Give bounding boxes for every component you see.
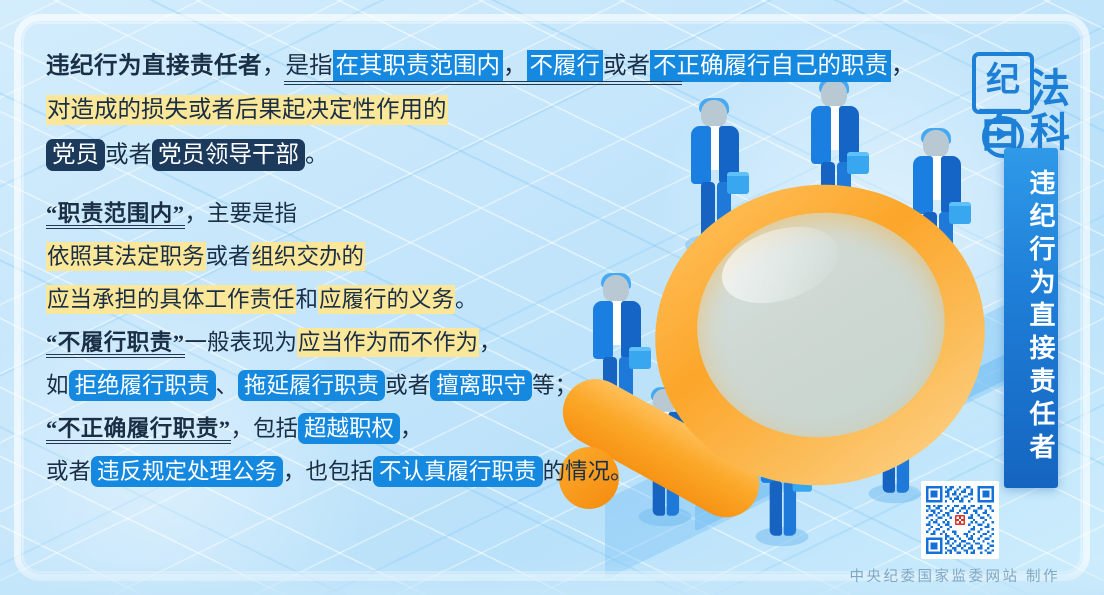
para3-line2: 如拒绝履行职责、拖延履行职责或者擅离职守等； <box>46 369 686 404</box>
para1-line1: 违纪行为直接责任者，是指在其职责范围内，不履行或者不正确履行自己的职责， <box>46 48 686 84</box>
vertical-title-text: 违纪行为直接责任者 <box>1004 164 1058 470</box>
text-segment: 或者 <box>603 53 650 79</box>
text-segment: ， <box>891 53 915 79</box>
text-segment: ，是指 <box>262 53 333 79</box>
text-segment: 或者 <box>46 459 91 484</box>
text-segment: 如 <box>46 373 69 398</box>
double-underline <box>46 354 185 358</box>
para4-line2: 或者违反规定处理公务，也包括不认真履行职责的情况。 <box>46 455 686 490</box>
article-text: 违纪行为直接责任者，是指在其职责范围内，不履行或者不正确履行自己的职责， 对造成… <box>46 48 686 497</box>
text-segment: “不正确履行职责” <box>46 416 231 441</box>
text-segment: 。 <box>455 287 478 312</box>
text-segment: 应当承担的具体工作责任 <box>46 285 296 314</box>
text-segment: 或者 <box>385 373 430 398</box>
double-underline <box>284 81 682 85</box>
para3-line1: “不履行职责”一般表现为应当作为而不作为， <box>46 326 686 361</box>
qr-code-image <box>926 486 994 554</box>
text-segment: 不认真履行职责 <box>373 456 543 487</box>
infographic-canvas: 违纪行为直接责任者，是指在其职责范围内，不履行或者不正确履行自己的职责， 对造成… <box>0 0 1104 595</box>
text-segment: 和 <box>296 287 319 312</box>
text-segment: 拖延履行职责 <box>238 370 385 401</box>
text-segment: ， <box>479 330 502 355</box>
text-segment: 。 <box>305 142 329 168</box>
logo-char-fa: 法 <box>1030 68 1070 110</box>
text-segment: 的情况。 <box>543 459 633 484</box>
text-segment: 应当作为而不作为 <box>297 328 479 357</box>
para2-line3: 应当承担的具体工作责任和应履行的义务。 <box>46 283 686 318</box>
text-segment: 拒绝履行职责 <box>69 370 216 401</box>
text-segment: “职责范围内” <box>46 201 185 226</box>
footer-credit: 中央纪委国家监委网站 制作 <box>849 565 1060 586</box>
text-segment: 应履行的义务 <box>318 285 455 314</box>
para1-line3: 党员或者党员领导干部。 <box>46 137 686 173</box>
text-segment: ， <box>400 416 423 441</box>
text-segment: 、 <box>216 373 239 398</box>
para2-line2: 依照其法定职务或者组织交办的 <box>46 240 686 275</box>
footer-bar: 中央纪委国家监委网站 制作 <box>0 559 1104 595</box>
text-segment: 违反规定处理公务 <box>91 456 283 487</box>
text-segment: ，主要是指 <box>185 201 298 226</box>
text-segment: ， <box>503 53 527 79</box>
text-segment: ，也包括 <box>283 459 373 484</box>
text-segment: 违纪行为直接责任者 <box>46 53 262 79</box>
text-segment: 不履行 <box>527 50 604 82</box>
vertical-title-band: 违纪行为直接责任者 <box>1004 148 1058 488</box>
text-segment: 等； <box>532 373 577 398</box>
text-segment: 党员领导干部 <box>152 139 305 171</box>
text-segment: 党员 <box>46 139 105 171</box>
text-segment: 对造成的损失或者后果起决定性作用的 <box>46 95 448 125</box>
para4-line1: “不正确履行职责”，包括超越职权， <box>46 412 686 447</box>
text-segment: 组织交办的 <box>251 242 366 271</box>
text-segment: ，包括 <box>231 416 299 441</box>
text-segment: 擅离职守 <box>430 370 532 401</box>
qr-code[interactable] <box>921 481 999 559</box>
para2-line1: “职责范围内”，主要是指 <box>46 197 686 232</box>
text-segment: 超越职权 <box>298 413 400 444</box>
double-underline <box>46 440 231 444</box>
double-underline <box>46 225 185 229</box>
text-segment: 不正确履行自己的职责 <box>650 50 891 82</box>
para1-line2: 对造成的损失或者后果起决定性作用的 <box>46 92 686 128</box>
text-segment: 或者 <box>206 244 251 269</box>
text-segment: 一般表现为 <box>185 330 298 355</box>
text-segment: 或者 <box>105 142 152 168</box>
text-segment: “不履行职责” <box>46 330 185 355</box>
text-segment: 在其职责范围内 <box>333 50 504 82</box>
text-segment: 依照其法定职务 <box>46 242 206 271</box>
